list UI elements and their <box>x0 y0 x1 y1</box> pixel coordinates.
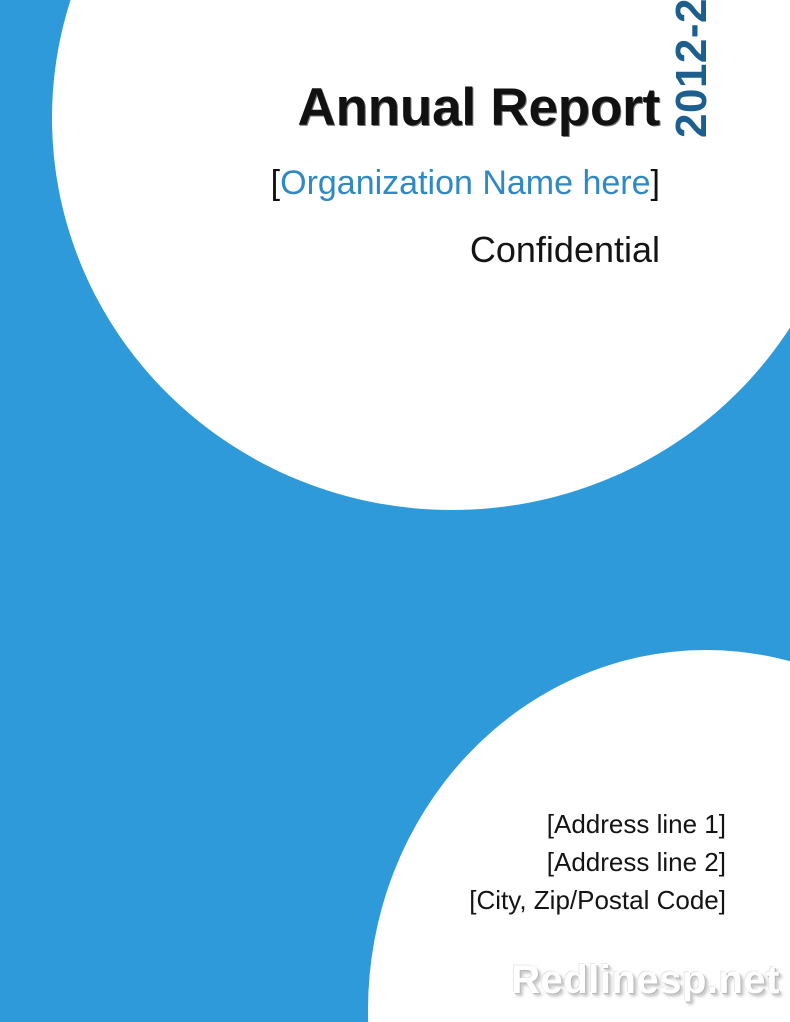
address-line-2[interactable]: [Address line 2] <box>330 844 726 882</box>
page-title: Annual Report <box>120 80 660 136</box>
confidentiality-label: Confidential <box>120 229 660 270</box>
address-line-1[interactable]: [Address line 1] <box>330 806 726 844</box>
watermark: Redlinesp.net <box>390 958 780 1003</box>
report-cover-page: Annual Report [Organization Name here] C… <box>0 0 790 1022</box>
year-range-label: 2012-2013 <box>662 0 722 138</box>
title-block: Annual Report [Organization Name here] C… <box>120 80 660 270</box>
organization-close-bracket: ] <box>651 164 660 202</box>
organization-name-line: [Organization Name here] <box>120 164 660 203</box>
address-line-city-zip[interactable]: [City, Zip/Postal Code] <box>330 882 726 920</box>
address-block: [Address line 1] [Address line 2] [City,… <box>330 806 726 920</box>
organization-open-bracket: [ <box>271 164 280 202</box>
organization-name-placeholder[interactable]: Organization Name here <box>280 164 650 202</box>
year-range-vertical: 2012-2013 <box>662 0 722 138</box>
watermark-label: Redlinesp.net <box>511 958 780 1002</box>
